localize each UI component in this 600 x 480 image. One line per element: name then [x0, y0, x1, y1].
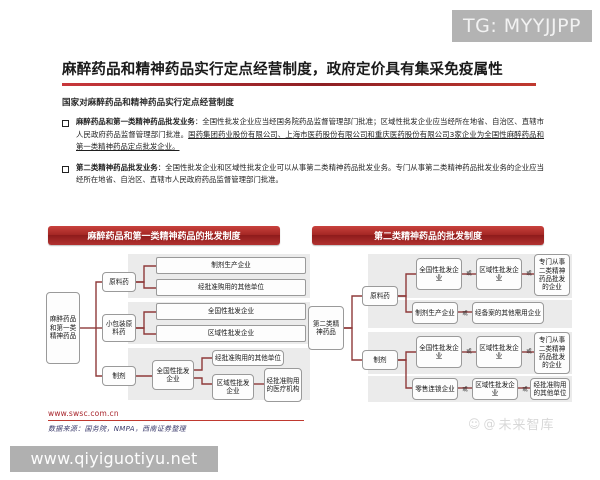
or-label: 或 [463, 345, 475, 357]
page-title: 麻醉药品和精神药品实行定点经营制度，政府定价具有集采免疫属性 [62, 58, 540, 79]
node-right-r3c3: 专门从事二类精神药品批发的企业 [534, 332, 570, 374]
left-panel-header: 麻醉药品和第一类精神药品的批发制度 [48, 226, 280, 245]
node-right-r1c1: 全国性批发企业 [416, 258, 462, 290]
node-root: 麻醉药品和第一类精神药品 [46, 292, 80, 364]
person-icon: ☺ [468, 417, 482, 431]
node-right-r3c1: 全国性批发企业 [416, 336, 462, 368]
node-left-2a: 全国性批发企业 [156, 303, 306, 320]
node-root: 第二类精神药品 [308, 306, 344, 350]
node-left-2b: 区域性批发企业 [156, 325, 306, 342]
subheading: 国家对麻醉药品和精神药品实行定点经营制度 [62, 96, 234, 108]
title-block: 麻醉药品和精神药品实行定点经营制度，政府定价具有集采免疫属性 [62, 58, 540, 86]
bullet-lead: 第二类精神药品批发业务 [76, 163, 158, 172]
slide-page: TG: MYYJJPP www.qiyiguotiyu.net ☺ @ 未来智库… [0, 0, 600, 480]
footer-url[interactable]: www.swsc.com.cn [48, 409, 119, 418]
bullet-list: 麻醉药品和第一类精神药品批发业务：全国性批发企业应当经国务院药品监督管理部门批准… [62, 116, 544, 195]
node-left-3d: 经批准购用的医疗机构 [264, 368, 302, 402]
or-label: 或 [459, 383, 471, 395]
node-right-r2c2: 经备案的其他需用企业 [472, 302, 544, 324]
telegram-watermark: TG: MYYJJPP [452, 10, 592, 42]
node-left-1a: 制剂生产企业 [156, 257, 306, 274]
library-watermark: ☺ @ 未来智库 [468, 414, 555, 433]
node-right-r1c3: 专门从事二类精神药品批发的企业 [534, 254, 570, 296]
right-panel-header: 第二类精神药品的批发制度 [312, 226, 544, 245]
node-branch-raw: 原料药 [362, 286, 398, 306]
bullet-square-icon [62, 166, 69, 173]
node-right-r3c2: 区域性批发企业 [476, 336, 522, 368]
title-divider [62, 83, 536, 86]
bullet-text: 第二类精神药品批发业务：全国性批发企业和区域性批发企业可以从事第二类精神药品批发… [76, 162, 544, 187]
library-watermark-label: 未来智库 [499, 414, 555, 433]
node-right-r1c2: 区域性批发企业 [476, 258, 522, 290]
node-right-r4c2: 区域性批发企业 [472, 378, 518, 400]
footer-source: 数据来源：国务院，NMPA，西南证券整理 [48, 424, 186, 434]
bullet-lead: 麻醉药品和第一类精神药品批发业务 [76, 117, 195, 126]
bullet-square-icon [62, 120, 69, 127]
node-left-3a: 全国性批发企业 [152, 360, 194, 390]
node-right-r2c1: 制剂生产企业 [412, 302, 458, 324]
at-icon: @ [484, 417, 497, 431]
node-right-r4c1: 零售连锁企业 [412, 378, 458, 400]
node-branch-preparation: 制剂 [102, 366, 136, 386]
node-branch-preparation: 制剂 [362, 350, 398, 370]
left-diagram: 麻醉药品和第一类精神药品 原料药 小包装原料药 制剂 制剂生产企业 经批准购用的… [40, 252, 312, 404]
list-item: 麻醉药品和第一类精神药品批发业务：全国性批发企业应当经国务院药品监督管理部门批准… [62, 116, 544, 154]
site-url-watermark: www.qiyiguotiyu.net [10, 446, 218, 472]
node-right-r4c3: 经批准购用的其他单位 [530, 378, 570, 400]
node-branch-raw: 原料药 [102, 272, 136, 292]
node-left-1b: 经批准购用的其他单位 [156, 279, 306, 296]
right-diagram: 第二类精神药品 原料药 制剂 全国性批发企业 或 区域性批发企业 或 专门从事二… [300, 252, 572, 404]
list-item: 第二类精神药品批发业务：全国性批发企业和区域性批发企业可以从事第二类精神药品批发… [62, 162, 544, 187]
bullet-text: 麻醉药品和第一类精神药品批发业务：全国性批发企业应当经国务院药品监督管理部门批准… [76, 116, 544, 154]
footer-divider [48, 420, 304, 421]
node-left-3b: 经批准购用的其他单位 [212, 350, 284, 366]
node-branch-small-pack: 小包装原料药 [102, 314, 136, 342]
or-label: 或 [463, 267, 475, 279]
or-label: 或 [459, 307, 471, 319]
node-left-3c: 区域性批发企业 [212, 374, 254, 400]
